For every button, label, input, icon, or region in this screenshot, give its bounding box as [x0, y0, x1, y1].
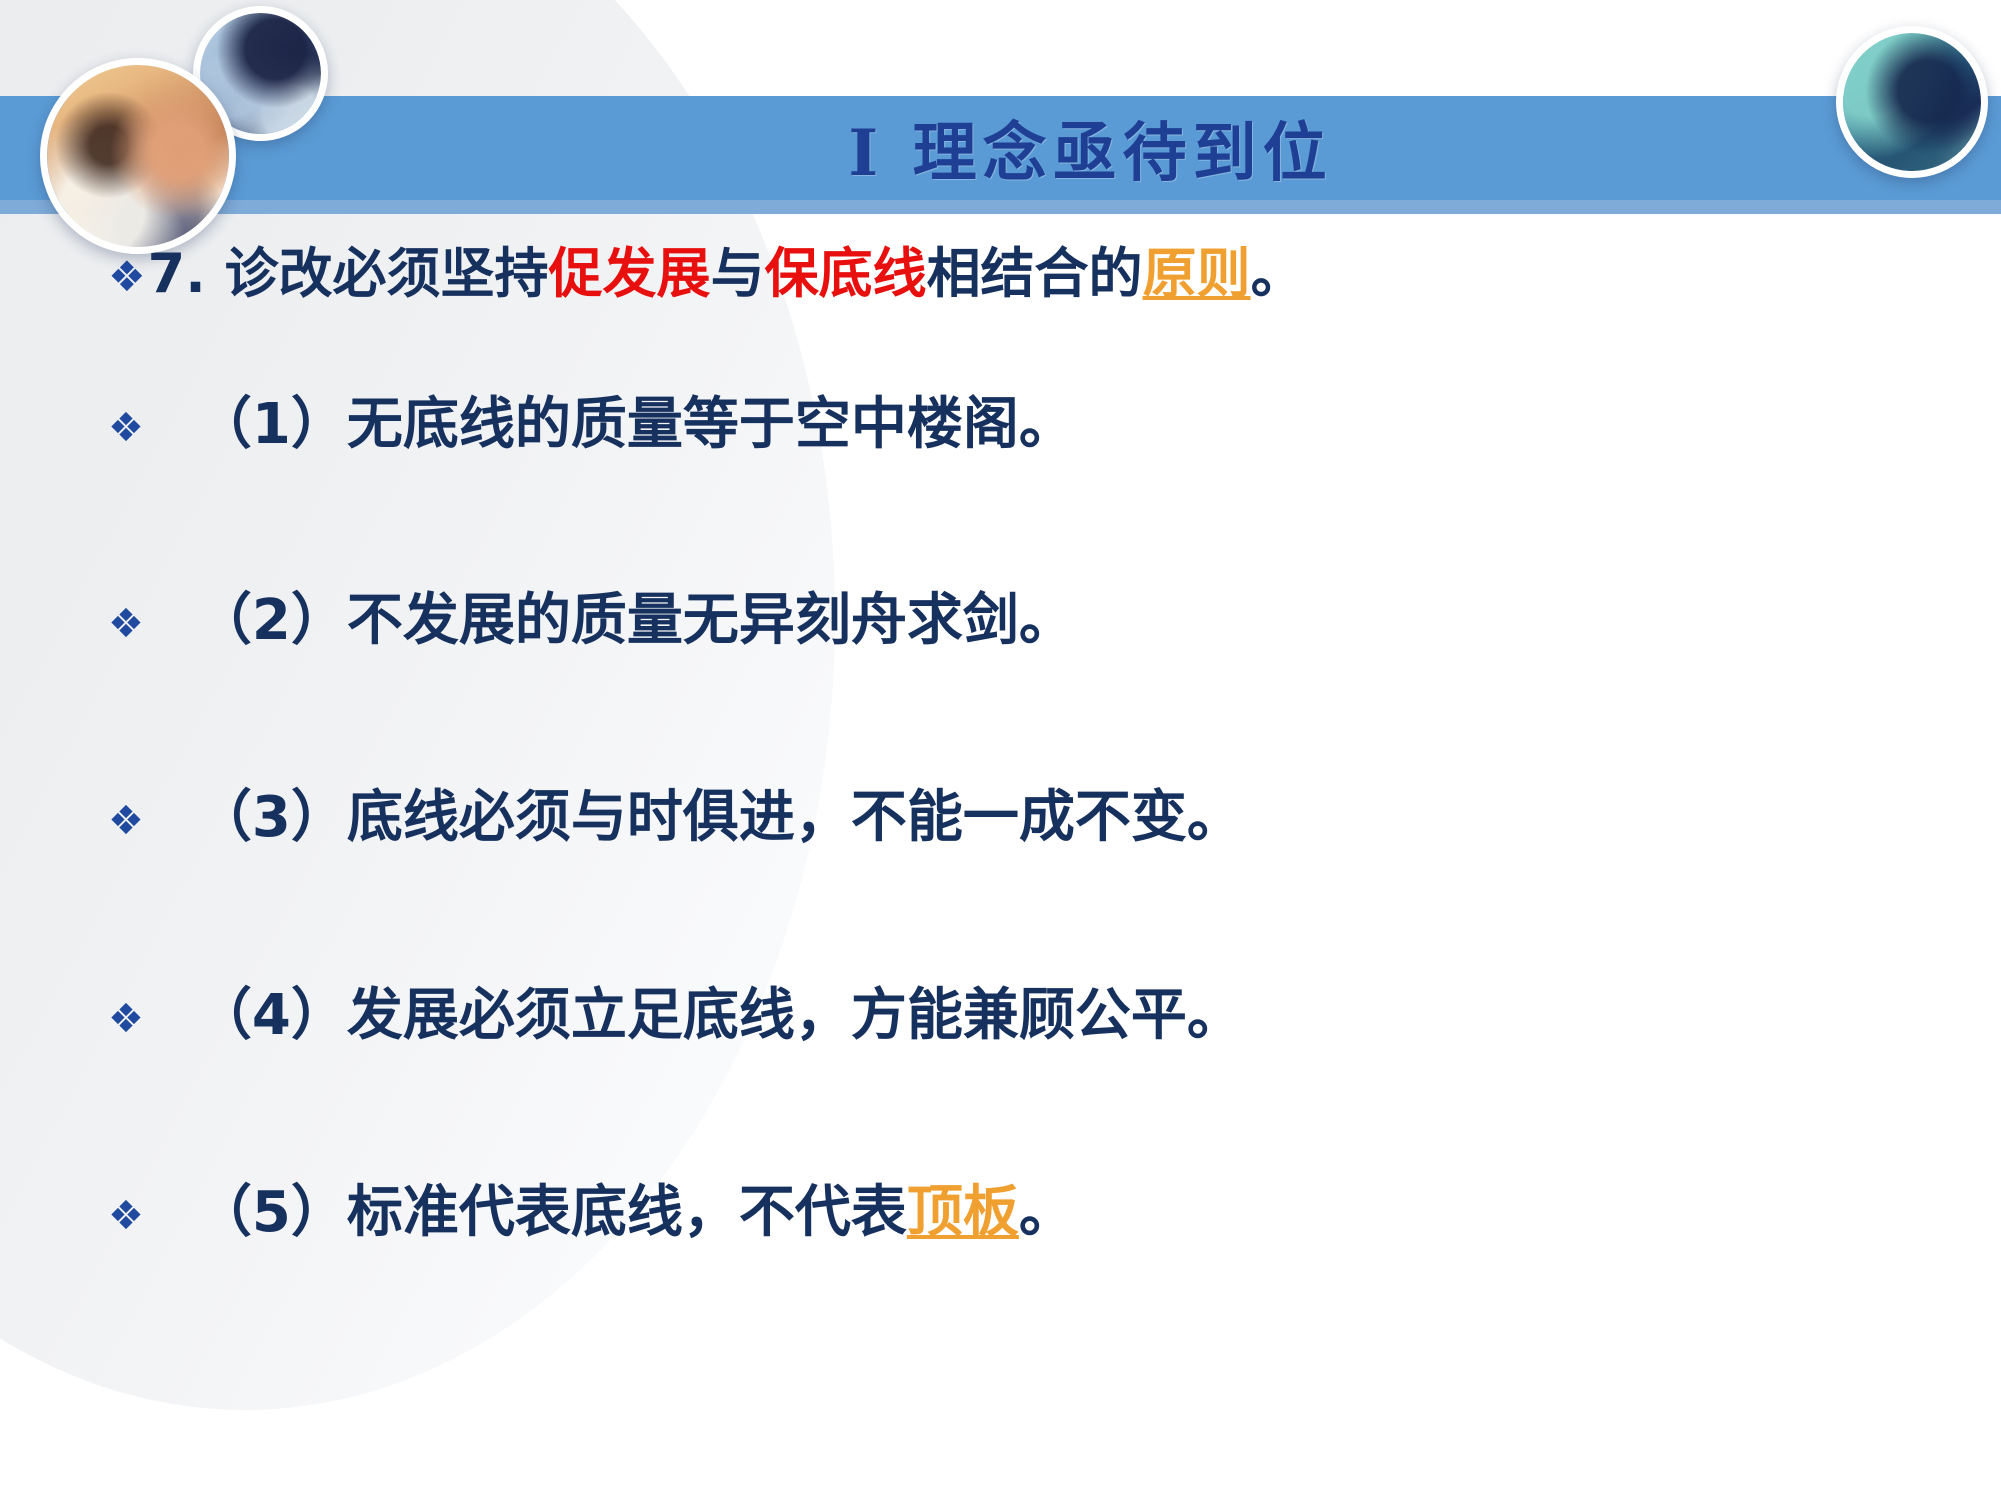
- item-5-highlight-orange: 顶板: [907, 1180, 1019, 1245]
- diamond-bullet-icon: ❖: [108, 256, 146, 298]
- bullet-item-1-text: （1）无底线的质量等于空中楼阁。: [196, 394, 1075, 456]
- slide-root: { "slide": { "header": { "title": "Ⅰ 理念亟…: [0, 0, 2001, 1501]
- item-1-body: 无底线的质量等于空中楼阁。: [347, 392, 1075, 457]
- bullet-item-2: ❖ （2）不发展的质量无异刻舟求剑。: [108, 590, 1075, 652]
- diamond-bullet-icon: ❖: [108, 999, 144, 1039]
- item-4-body: 发展必须立足底线，方能兼顾公平。: [347, 983, 1243, 1048]
- item-7-part3: 相结合的: [927, 242, 1143, 305]
- diamond-bullet-icon: ❖: [108, 604, 144, 644]
- item-3-label: （3）: [196, 785, 347, 850]
- bullet-item-5: ❖ （5）标准代表底线，不代表顶板。: [108, 1182, 1075, 1244]
- bullet-item-7-text: 7. 诊改必须坚持促发展与保底线相结合的原则。: [148, 244, 1305, 303]
- bullet-item-1: ❖ （1）无底线的质量等于空中楼阁。: [108, 394, 1075, 456]
- diamond-bullet-icon: ❖: [108, 1196, 144, 1236]
- presenter-photo-image: [1843, 33, 1981, 171]
- item-3-body: 底线必须与时俱进，不能一成不变。: [347, 785, 1243, 850]
- bullet-item-3: ❖ （3）底线必须与时俱进，不能一成不变。: [108, 787, 1243, 849]
- item-7-highlight-red-1: 促发展: [549, 242, 711, 305]
- item-2-body: 不发展的质量无异刻舟求剑。: [347, 588, 1075, 653]
- header-band-edge: [0, 200, 2001, 214]
- bullet-item-3-text: （3）底线必须与时俱进，不能一成不变。: [196, 787, 1243, 849]
- office-workers-photo-image: [47, 65, 229, 247]
- item-4-label: （4）: [196, 983, 347, 1048]
- item-7-highlight-orange: 原则: [1143, 242, 1251, 305]
- bullet-item-5-text: （5）标准代表底线，不代表顶板。: [196, 1182, 1075, 1244]
- item-7-part4: 。: [1251, 242, 1305, 305]
- bullet-item-4-text: （4）发展必须立足底线，方能兼顾公平。: [196, 985, 1243, 1047]
- bullet-item-4: ❖ （4）发展必须立足底线，方能兼顾公平。: [108, 985, 1243, 1047]
- item-5-body-after: 。: [1019, 1180, 1075, 1245]
- item-2-label: （2）: [196, 588, 347, 653]
- bullet-item-2-text: （2）不发展的质量无异刻舟求剑。: [196, 590, 1075, 652]
- item-7-part2: 与: [711, 242, 765, 305]
- item-7-highlight-red-2: 保底线: [765, 242, 927, 305]
- item-1-label: （1）: [196, 392, 347, 457]
- item-5-label: （5）: [196, 1180, 347, 1245]
- bullet-item-7: ❖ 7. 诊改必须坚持促发展与保底线相结合的原则。: [108, 244, 1305, 303]
- item-7-part1: 诊改必须坚持: [206, 242, 549, 305]
- diamond-bullet-icon: ❖: [108, 408, 144, 448]
- presenter-photo: [1836, 26, 1988, 178]
- item-5-body-before: 标准代表底线，不代表: [347, 1180, 907, 1245]
- office-workers-photo: [40, 58, 236, 254]
- diamond-bullet-icon: ❖: [108, 801, 144, 841]
